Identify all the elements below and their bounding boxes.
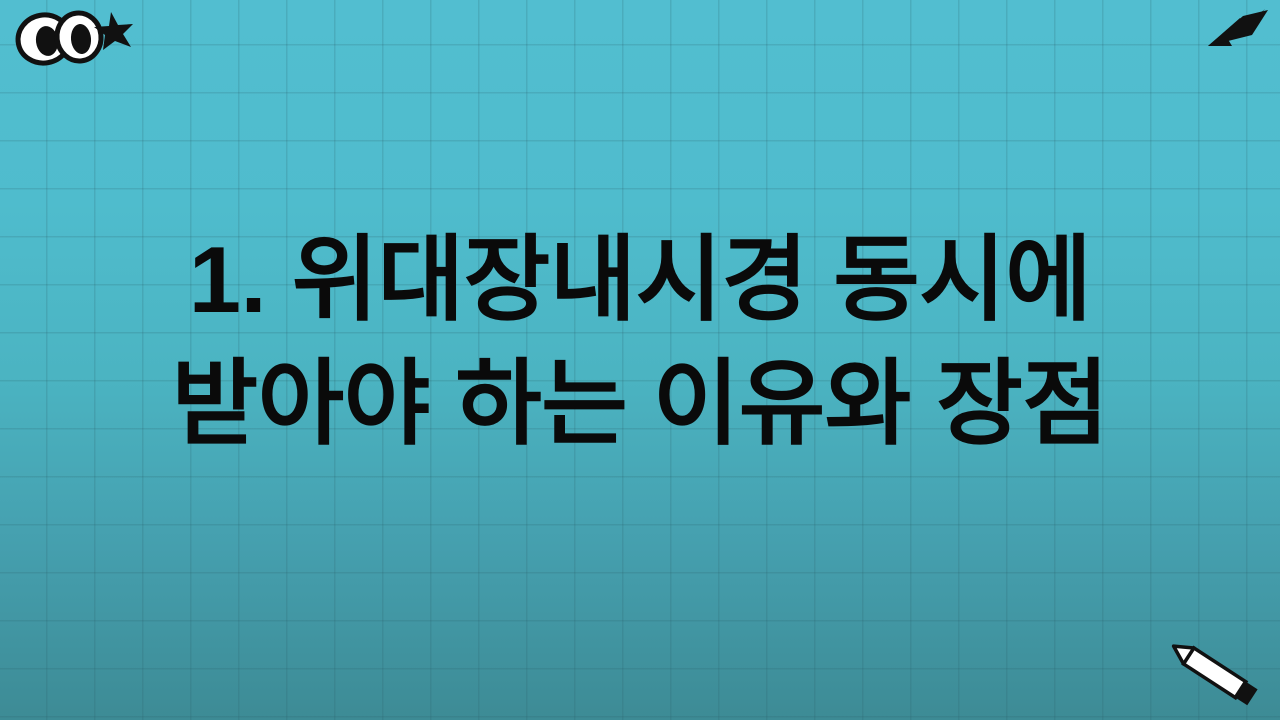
page-title: 1. 위대장내시경 동시에 받아야 하는 이유와 장점 <box>0 218 1280 466</box>
pencil-svg <box>1160 636 1270 716</box>
cursor-arrow-svg <box>1202 2 1270 56</box>
right-eye-icon <box>55 11 104 63</box>
headline-line-2: 받아야 하는 이유와 장점 <box>60 342 1220 466</box>
eyes-star-logo <box>8 2 138 74</box>
headline-line-1: 1. 위대장내시경 동시에 <box>60 218 1220 342</box>
thumbnail-canvas: 1. 위대장내시경 동시에 받아야 하는 이유와 장점 <box>0 0 1280 720</box>
pencil-icon <box>1160 636 1270 716</box>
cursor-arrow-icon <box>1202 2 1270 56</box>
eyes-star-logo-svg <box>8 2 138 74</box>
